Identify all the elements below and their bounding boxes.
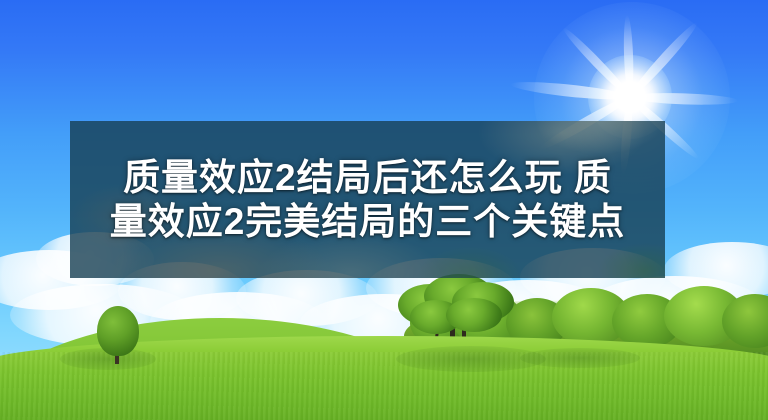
title-line-2: 量效应2完美结局的三个关键点 [110, 202, 626, 242]
title-text-block: 质量效应2结局后还怎么玩 质 量效应2完美结局的三个关键点 [70, 121, 665, 278]
banner-image: 质量效应2结局后还怎么玩 质 量效应2完美结局的三个关键点 [0, 0, 768, 420]
title-line-1: 质量效应2结局后还怎么玩 质 [123, 158, 612, 198]
title-banner: 质量效应2结局后还怎么玩 质 量效应2完美结局的三个关键点 [70, 121, 665, 278]
tree-crown [97, 306, 139, 356]
tree-shadow [520, 348, 640, 368]
tree-crown [446, 298, 502, 332]
